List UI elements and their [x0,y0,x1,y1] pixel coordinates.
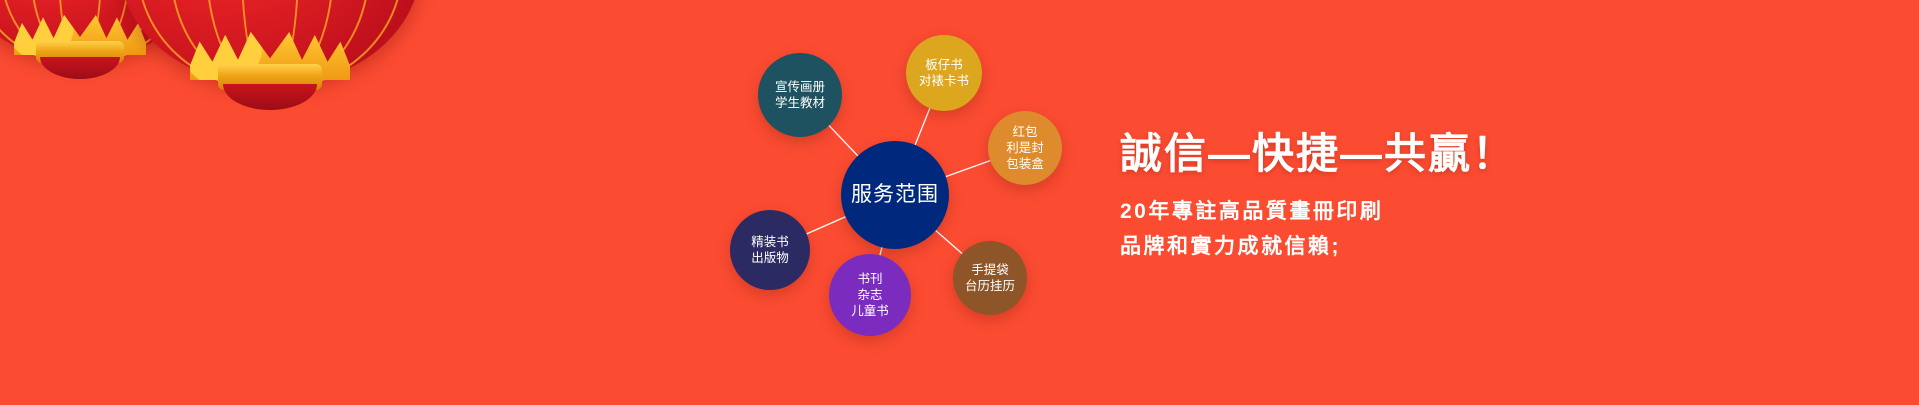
lantern-rib [30,0,130,65]
red-lantern-right: 福 [120,0,420,100]
lantern-cap [218,64,322,90]
bubble-label-line: 利是封 [1006,140,1044,156]
diagram-link [915,108,930,145]
diagram-link [946,161,990,177]
lantern-body [120,0,420,86]
lantern-rib [137,0,403,91]
bubble-center-label: 服务范围 [851,182,939,209]
lantern-rib [206,0,334,91]
diagram-link [880,247,882,255]
bubble-label-line: 精装书 [751,234,789,250]
red-lantern-left [0,0,200,75]
promo-subline-2: 品牌和實力成就信賴; [1120,230,1760,265]
service-scope-diagram: 服务范围 宣传画册学生教材板仔书对裱卡书红包利是封包装盒手提袋台历挂历书刊杂志儿… [600,0,1160,405]
bubble-label-line: 书刊 [857,271,882,287]
bubble-label-line: 学生教材 [775,95,825,111]
diagram-link [807,217,846,234]
lantern-crown [190,32,350,80]
lantern-rib [58,0,102,65]
bubble-label-line: 台历挂历 [965,278,1015,294]
bubble-label-line: 手提袋 [971,262,1009,278]
lantern-decoration-group: 福 [0,0,700,150]
bubble-label-line: 杂志 [857,287,882,303]
lantern-body [0,0,200,61]
bubble-label-line: 宣传画册 [775,79,825,95]
bubble-label-line: 包装盒 [1006,156,1044,172]
lantern-rib [170,0,370,91]
lantern-cap-lip [40,57,120,79]
bubble-label-line: 红包 [1012,124,1037,140]
promo-subline-1: 20年專註高品質畫冊印刷 [1120,195,1760,230]
bubble-label-line: 出版物 [751,250,789,266]
lantern-cap-lip [223,84,317,110]
promo-copy: 誠信—快捷—共贏！ 20年專註高品質畫冊印刷 品牌和實力成就信賴; [1120,120,1760,264]
lantern-crown [14,15,146,55]
bubble-label-line: 对裱卡书 [919,73,969,89]
lantern-rib [0,0,160,65]
node-red-envelope-box[interactable]: 红包利是封包装盒 [988,111,1062,185]
diagram-link [936,231,962,254]
lantern-cap [36,41,124,63]
node-handbag-calendar[interactable]: 手提袋台历挂历 [953,241,1027,315]
diagram-link [829,125,858,155]
node-hardcover-publication[interactable]: 精装书出版物 [730,210,810,290]
lantern-rib [0,0,186,65]
promo-headline: 誠信—快捷—共贏！ [1120,120,1760,181]
lantern-rib [241,0,299,91]
bubble-center-service-scope[interactable]: 服务范围 [841,141,949,249]
node-board-book[interactable]: 板仔书对裱卡书 [906,35,982,111]
bubble-label-line: 儿童书 [851,303,889,319]
node-magazine-children[interactable]: 书刊杂志儿童书 [829,254,911,336]
promo-banner: 福 服务范围 宣传画册学生教材板仔书对裱卡书红包利是封包装盒手提袋台历挂历书刊杂… [0,0,1919,405]
node-brochure-textbook[interactable]: 宣传画册学生教材 [758,53,842,137]
bubble-label-line: 板仔书 [925,57,963,73]
